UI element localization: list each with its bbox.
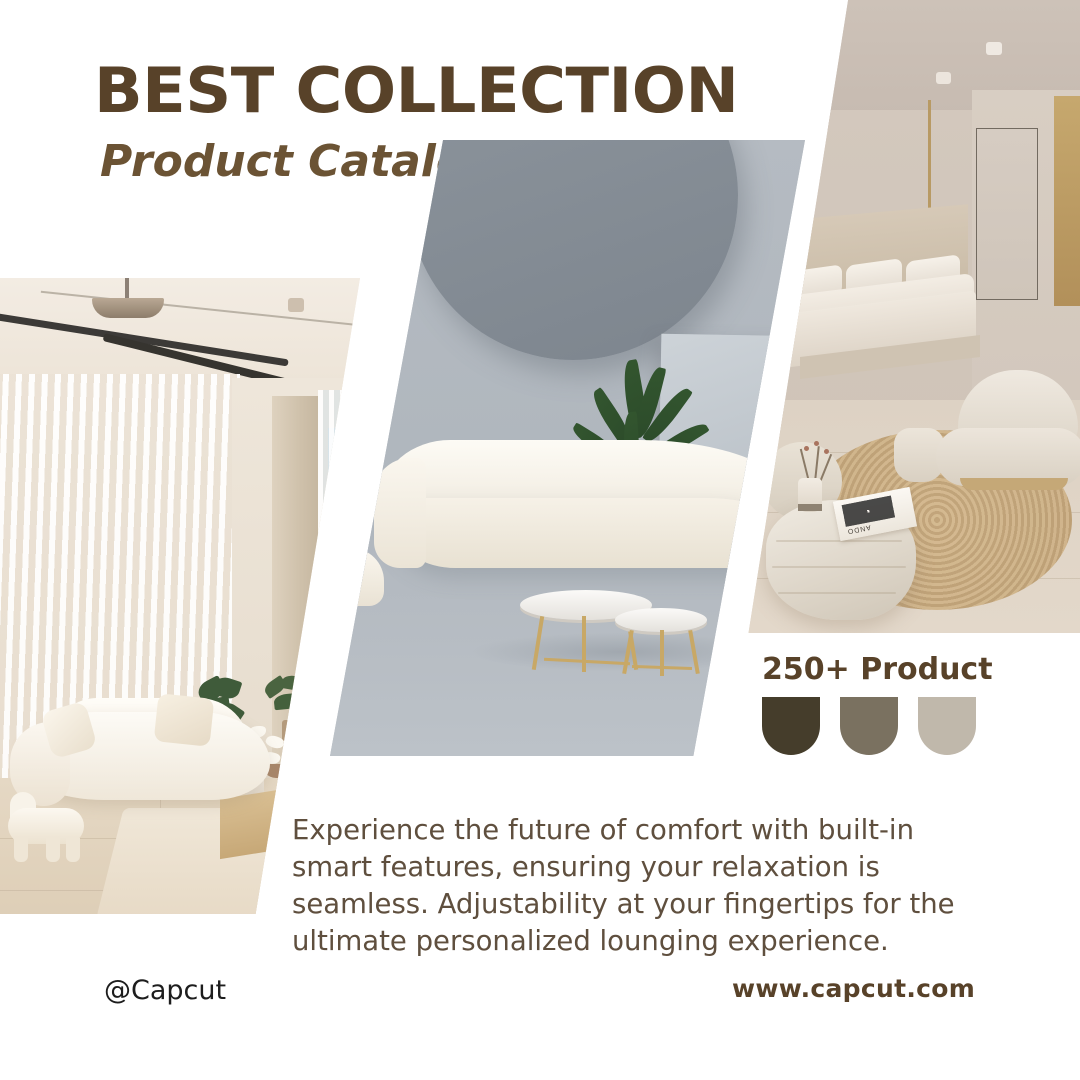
swatch-dark-olive[interactable] <box>762 697 820 755</box>
studio-scene <box>330 140 805 756</box>
website-url[interactable]: www.capcut.com <box>732 974 975 1003</box>
swatch-light-greige[interactable] <box>918 697 976 755</box>
floor-shadow <box>470 632 770 672</box>
stone-ridge <box>776 540 902 542</box>
curved-sofa <box>6 686 274 816</box>
photo-panel-beige-bedroom: ANDO <box>740 0 1080 633</box>
product-count-label: 250+ Product <box>762 652 993 687</box>
ceiling-spot-1 <box>986 42 1002 55</box>
bed <box>780 262 980 374</box>
swatch-warm-taupe[interactable] <box>840 697 898 755</box>
social-handle: @Capcut <box>104 975 226 1006</box>
flush-door <box>976 128 1038 300</box>
wall-art-panel <box>1054 96 1080 306</box>
photo-panel-grey-studio-sofa <box>330 140 805 756</box>
pendant-rod <box>125 278 129 300</box>
boucle-lounge-chair <box>936 370 1080 500</box>
ceiling-spot-2 <box>936 72 951 84</box>
wavy-sofa <box>370 440 800 600</box>
bedroom-scene: ANDO <box>740 0 1080 633</box>
color-swatch-group <box>762 697 976 755</box>
stone-ridge <box>778 592 896 594</box>
page-title: BEST COLLECTION <box>94 58 738 123</box>
description-text: Experience the future of comfort with bu… <box>292 812 972 960</box>
pendant-lamp <box>92 298 164 318</box>
description-paragraph: Experience the future of comfort with bu… <box>292 812 972 960</box>
poster-canvas: BEST COLLECTION Product Catalog <box>0 0 1080 1080</box>
stone-ridge <box>772 566 906 568</box>
boucle-stool <box>2 800 88 858</box>
spot-light <box>288 298 304 312</box>
